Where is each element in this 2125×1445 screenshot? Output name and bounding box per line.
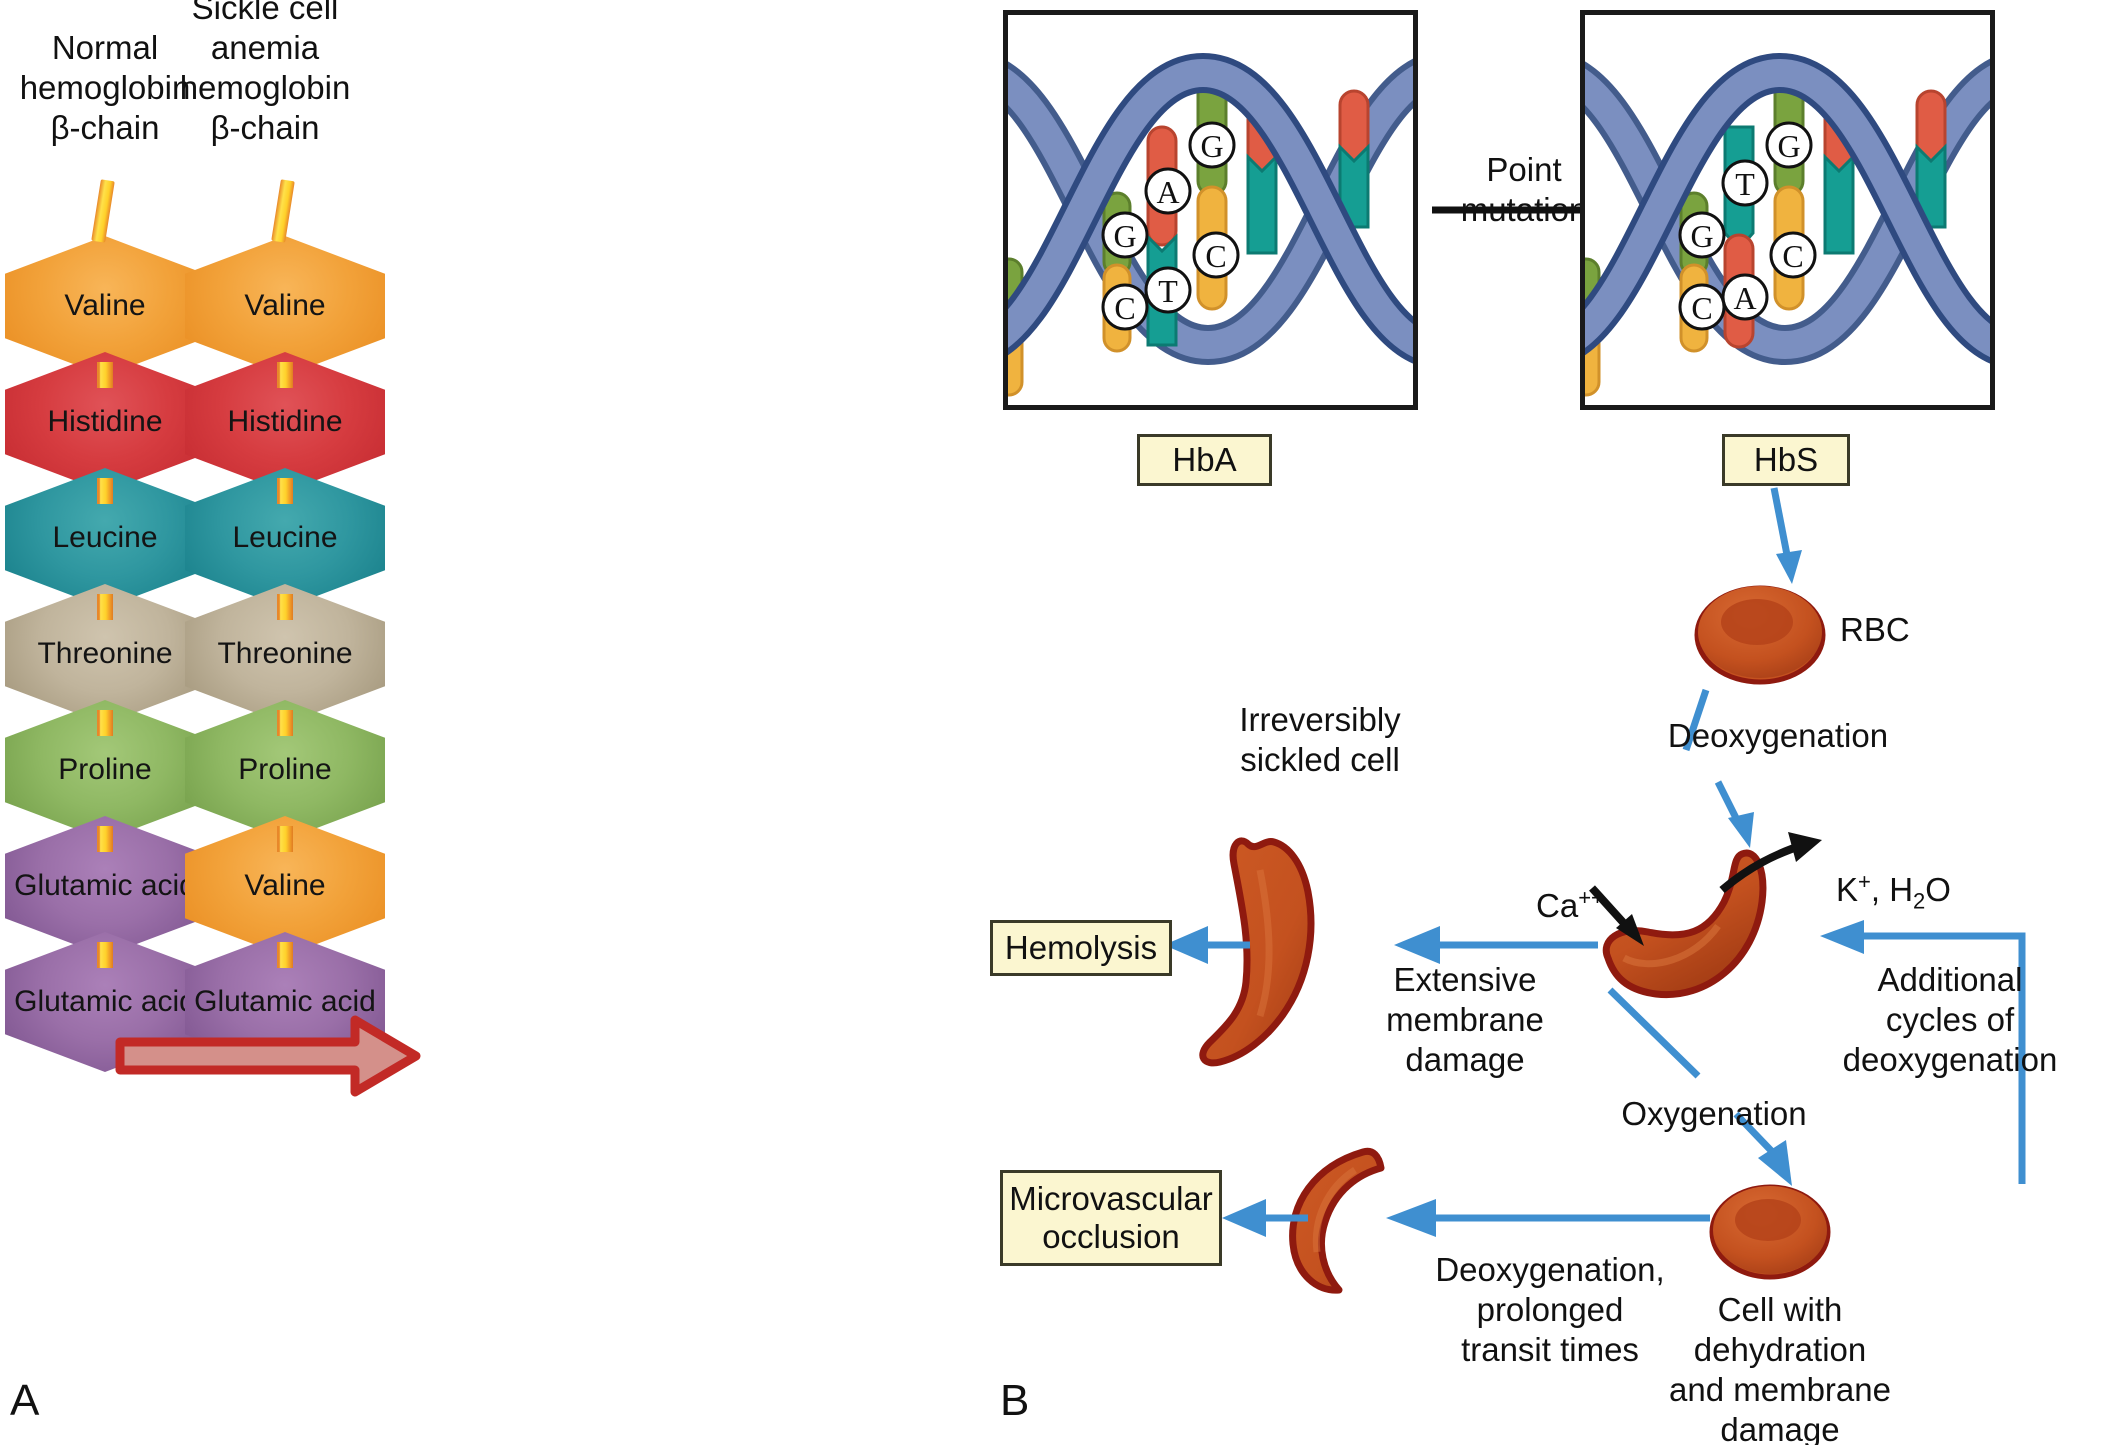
- mutation-arrow: [120, 1016, 540, 1126]
- base-letter-2: C: [1205, 238, 1226, 274]
- rbc-dehydrated: [1705, 1180, 1835, 1285]
- microvascular-arrow: [1218, 1195, 1308, 1241]
- peptide-bond-normal-1: [97, 478, 113, 504]
- peptide-bond-sickle-5: [277, 942, 293, 968]
- calcium-arrow: [1588, 884, 1668, 954]
- ca-symbol: Ca: [1536, 887, 1578, 924]
- chain-tail-normal: [91, 179, 115, 242]
- potassium-water-arrow: [1718, 828, 1838, 908]
- base-letter-3: T: [1158, 273, 1178, 309]
- peptide-bond-sickle-2: [277, 594, 293, 620]
- hemolysis-arrow: [1160, 922, 1250, 968]
- sickle-chain-title: Sickle cell anemia hemoglobin β-chain: [155, 0, 375, 148]
- mutation-arrow-shape: [120, 1020, 416, 1092]
- irreversibly-sickled-label: Irreversibly sickled cell: [1180, 700, 1460, 780]
- oxygenation-label: Oxygenation: [1584, 1094, 1844, 1134]
- base-letter-3: A: [1733, 280, 1756, 316]
- panel-b-letter: B: [1000, 1376, 1029, 1426]
- dna-panel-hbs: G T C A G C: [1580, 10, 1995, 410]
- potassium-water-label: K+, H2O: [1836, 822, 2066, 922]
- peptide-bond-normal-5: [97, 942, 113, 968]
- peptide-bond-normal-0: [97, 362, 113, 388]
- deox-transit-label: Deoxygenation, prolonged transit times: [1400, 1250, 1700, 1370]
- base-letter-4: G: [1200, 128, 1223, 164]
- peptide-bond-normal-4: [97, 826, 113, 852]
- dna-panel-hba: G A C T G C: [1003, 10, 1418, 410]
- deoxygenation-arrow: [1680, 690, 1820, 850]
- peptide-bond-normal-2: [97, 594, 113, 620]
- rbc-normal: [1690, 580, 1830, 690]
- deoxygenation-label: Deoxygenation: [1648, 716, 1908, 756]
- peptide-bond-sickle-0: [277, 362, 293, 388]
- dna-helix-hbs: G T C A G C: [1585, 15, 1995, 410]
- peptide-bond-sickle-3: [277, 710, 293, 736]
- hbs-to-rbc-arrow: [1760, 488, 1820, 588]
- k-charge: +: [1858, 869, 1871, 894]
- chain-tail-sickle: [271, 179, 295, 242]
- peptide-bond-normal-3: [97, 710, 113, 736]
- base-letter-0: G: [1690, 218, 1713, 254]
- rbc-label: RBC: [1840, 610, 1960, 650]
- microvascular-occlusion-tag: Microvascular occlusion: [1000, 1170, 1222, 1266]
- dna-helix-hba: G A C T G C: [1008, 15, 1418, 410]
- peptide-bond-sickle-4: [277, 826, 293, 852]
- hba-tag: HbA: [1137, 434, 1272, 486]
- base-letter-2: C: [1782, 238, 1803, 274]
- deox-transit-arrow: [1380, 1195, 1710, 1241]
- k-symbol: K: [1836, 871, 1858, 908]
- hbs-tag: HbS: [1722, 434, 1850, 486]
- h2o-tail: O: [1925, 871, 1951, 908]
- peptide-bond-sickle-1: [277, 478, 293, 504]
- panel-a-letter: A: [10, 1376, 39, 1426]
- h2o-prefix: , H: [1871, 871, 1913, 908]
- base-letter-5: C: [1691, 290, 1712, 326]
- h2o-sub: 2: [1913, 889, 1925, 914]
- base-letter-0: G: [1113, 218, 1136, 254]
- base-letter-5: C: [1114, 290, 1135, 326]
- base-letter-1: T: [1735, 166, 1755, 202]
- base-letter-4: G: [1777, 128, 1800, 164]
- base-letter-1: A: [1156, 174, 1179, 210]
- hemolysis-tag: Hemolysis: [990, 920, 1172, 976]
